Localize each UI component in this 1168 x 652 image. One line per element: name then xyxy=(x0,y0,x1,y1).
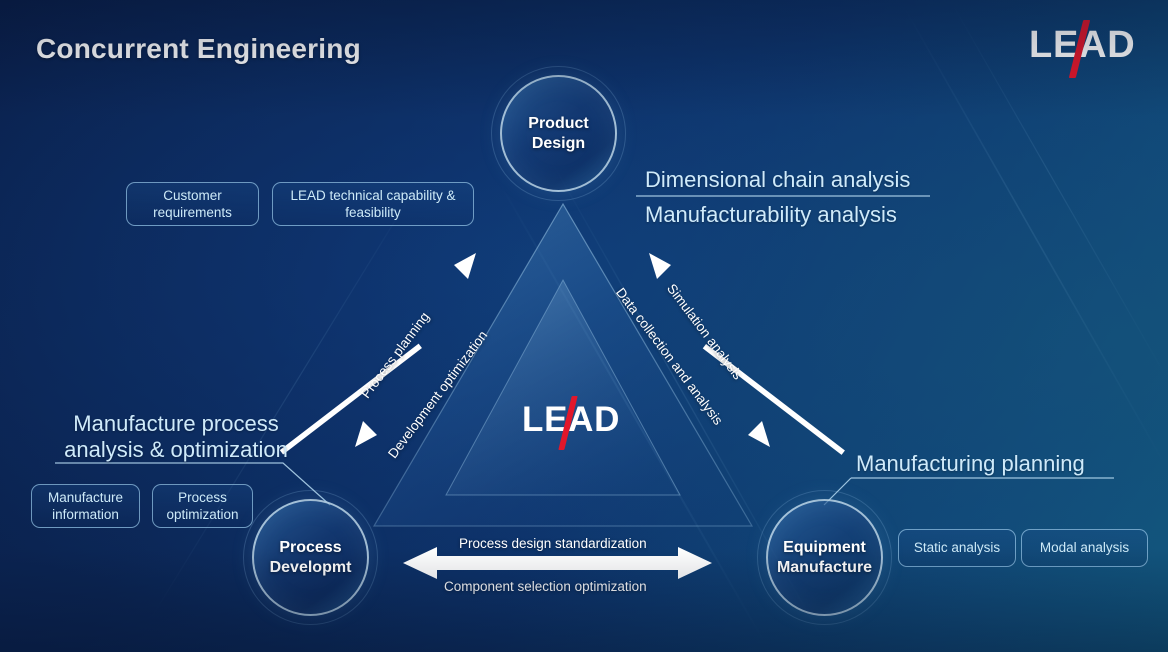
slide-canvas: Concurrent Engineering LEAD LEAD Product… xyxy=(0,0,1168,652)
pill-modal-analysis[interactable]: Modal analysis xyxy=(1021,529,1148,567)
node-equipment-manufacture[interactable]: EquipmentManufacture xyxy=(766,499,883,616)
node-product-design[interactable]: ProductDesign xyxy=(500,75,617,192)
pill-lead-technical-capability[interactable]: LEAD technical capability & feasibility xyxy=(272,182,474,226)
pill-static-analysis[interactable]: Static analysis xyxy=(898,529,1016,567)
node-label: EquipmentManufacture xyxy=(777,538,872,577)
annotation-manufacturing-planning: Manufacturing planning xyxy=(856,451,1085,477)
page-title: Concurrent Engineering xyxy=(36,33,361,65)
annotation-manufacturability-analysis: Manufacturability analysis xyxy=(645,202,897,228)
annotation-manufacture-process-analysis: Manufacture process analysis & optimizat… xyxy=(50,411,302,463)
annotation-dimensional-chain-analysis: Dimensional chain analysis xyxy=(645,167,910,193)
lead-logo-top-right: LEAD xyxy=(1029,26,1121,72)
pill-process-optimization[interactable]: Process optimization xyxy=(152,484,253,528)
arrow-label-process-design-standardization: Process design standardization xyxy=(459,536,647,551)
pill-manufacture-information[interactable]: Manufacture information xyxy=(31,484,140,528)
node-process-development[interactable]: ProcessDevelopmt xyxy=(252,499,369,616)
lead-logo-center: LEAD xyxy=(522,402,608,444)
node-label: ProductDesign xyxy=(528,114,588,153)
pill-customer-requirements[interactable]: Customer requirements xyxy=(126,182,259,226)
node-label: ProcessDevelopmt xyxy=(270,538,352,577)
arrow-label-component-selection-optimization: Component selection optimization xyxy=(444,579,647,594)
arrow-bottom xyxy=(403,547,712,579)
